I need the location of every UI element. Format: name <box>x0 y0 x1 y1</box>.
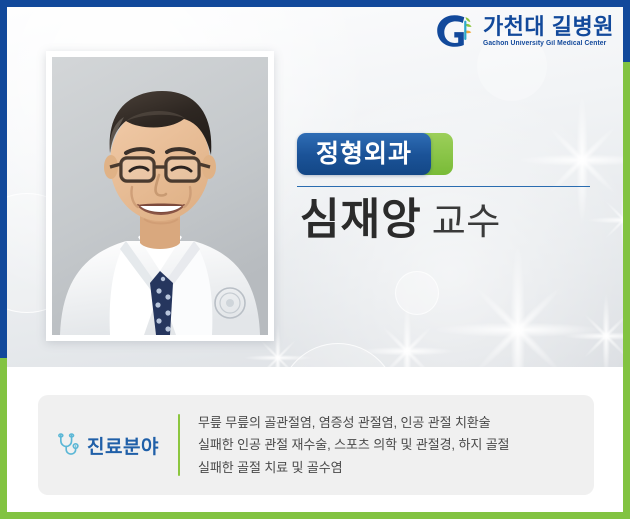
specialty-label-group: 진료분야 <box>38 432 178 459</box>
top-blue-border <box>0 0 630 7</box>
doctor-name: 심재앙 <box>300 196 422 245</box>
specialty-line: 실패한 인공 관절 재수술, 스포츠 의학 및 관절경, 하지 골절 <box>198 436 582 454</box>
sparkle-icon <box>563 293 623 367</box>
gachon-gil-logo-icon <box>434 13 476 49</box>
sparkle-icon <box>433 245 603 367</box>
doctor-photo-frame <box>46 51 274 341</box>
doctor-name-row: 심재앙 교수 <box>300 196 501 245</box>
department-badge: 정형외과 <box>297 133 453 175</box>
bokeh-circle <box>279 343 397 367</box>
bottom-green-border <box>0 512 630 519</box>
hospital-logo-text: 가천대 길병원 Gachon University Gil Medical Ce… <box>483 15 614 47</box>
left-green-border <box>0 352 7 519</box>
specialty-label: 진료분야 <box>87 432 159 459</box>
sparkle-icon <box>587 183 623 257</box>
doctor-portrait-illustration <box>52 57 268 335</box>
doctor-title: 교수 <box>432 201 501 244</box>
specialty-line: 무릎 무릎의 골관절염, 염증성 관절염, 인공 관절 치환술 <box>198 414 582 432</box>
hospital-name-en: Gachon University Gil Medical Center <box>483 40 606 47</box>
doctor-profile-card: 가천대 길병원 Gachon University Gil Medical Ce… <box>0 0 630 519</box>
specialty-list: 무릎 무릎의 골관절염, 염증성 관절염, 인공 관절 치환술 실패한 인공 관… <box>180 414 594 477</box>
department-badge-blue: 정형외과 <box>297 133 431 175</box>
hospital-logo: 가천대 길병원 Gachon University Gil Medical Ce… <box>434 13 614 49</box>
stethoscope-icon <box>57 433 80 457</box>
bokeh-circle <box>395 271 439 315</box>
name-divider <box>297 186 590 187</box>
specialty-line: 실패한 골절 치료 및 골수염 <box>198 459 582 477</box>
department-label: 정형외과 <box>316 142 412 167</box>
specialty-panel: 진료분야 무릎 무릎의 골관절염, 염증성 관절염, 인공 관절 치환술 실패한… <box>38 395 594 495</box>
sparkle-icon <box>517 95 623 225</box>
right-green-border <box>623 0 630 519</box>
sparkle-icon <box>359 303 455 367</box>
doctor-photo <box>52 57 268 335</box>
left-blue-border <box>0 0 7 358</box>
hospital-name-ko: 가천대 길병원 <box>483 15 614 38</box>
right-blue-border <box>623 0 630 62</box>
